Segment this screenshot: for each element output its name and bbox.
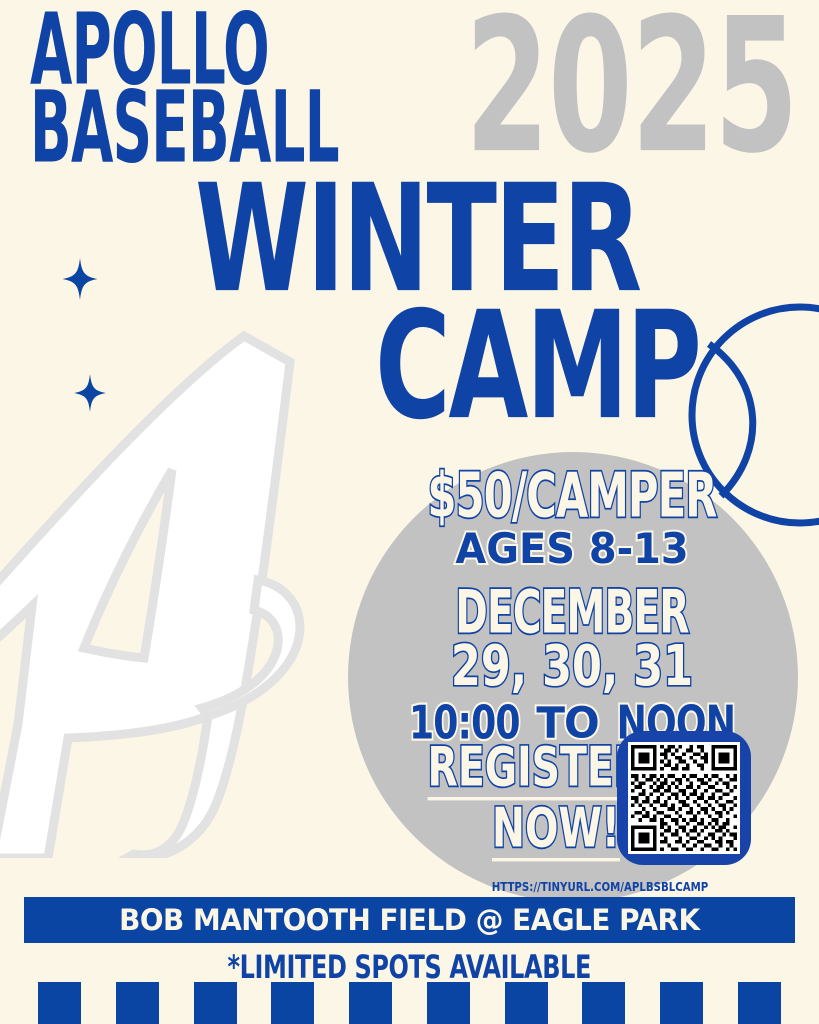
qr-code-frame[interactable] [617, 731, 751, 865]
checker-strip [0, 982, 819, 1024]
checker-square [271, 982, 314, 1024]
register-line-1: REGISTER [428, 740, 645, 800]
sparkle-icon [62, 258, 98, 300]
register-group[interactable]: REGISTER NOW! [380, 740, 800, 890]
checker-square [194, 982, 237, 1024]
checker-square [427, 982, 470, 1024]
venue-label: BOB MANTOOTH FIELD @ EAGLE PARK [119, 903, 700, 937]
checker-square [582, 982, 625, 1024]
headline-camp: CAMP [375, 305, 699, 427]
register-text-block: REGISTER NOW! [380, 740, 620, 854]
poster-canvas: 2025 APOLLO BASEBALL WINTER CAMP $50/CAM… [0, 0, 819, 1024]
checker-square [505, 982, 548, 1024]
checker-square [38, 982, 81, 1024]
headline-group: APOLLO BASEBALL [30, 8, 790, 150]
registration-url[interactable]: HTTPS://TINYURL.COM/APLBSBLCAMP [464, 880, 736, 894]
qr-code[interactable] [628, 742, 740, 854]
sparkle-icon [74, 374, 106, 412]
price-label: $50/CAMPER [396, 466, 748, 527]
days-label: 29, 30, 31 [383, 638, 761, 694]
limited-spots-note: *LIMITED SPOTS AVAILABLE [0, 950, 819, 985]
ages-label: AGES 8-13 [363, 528, 781, 570]
checker-square [738, 982, 781, 1024]
checker-square [660, 982, 703, 1024]
checker-square [349, 982, 392, 1024]
checker-square [116, 982, 159, 1024]
apollo-script-a-logo [0, 318, 392, 858]
register-line-2: NOW! [492, 801, 620, 861]
camp-details-group: $50/CAMPER AGES 8-13 DECEMBER 29, 30, 31… [352, 466, 792, 744]
venue-banner: BOB MANTOOTH FIELD @ EAGLE PARK [24, 897, 795, 943]
limited-spots-text: *LIMITED SPOTS AVAILABLE [228, 949, 592, 987]
